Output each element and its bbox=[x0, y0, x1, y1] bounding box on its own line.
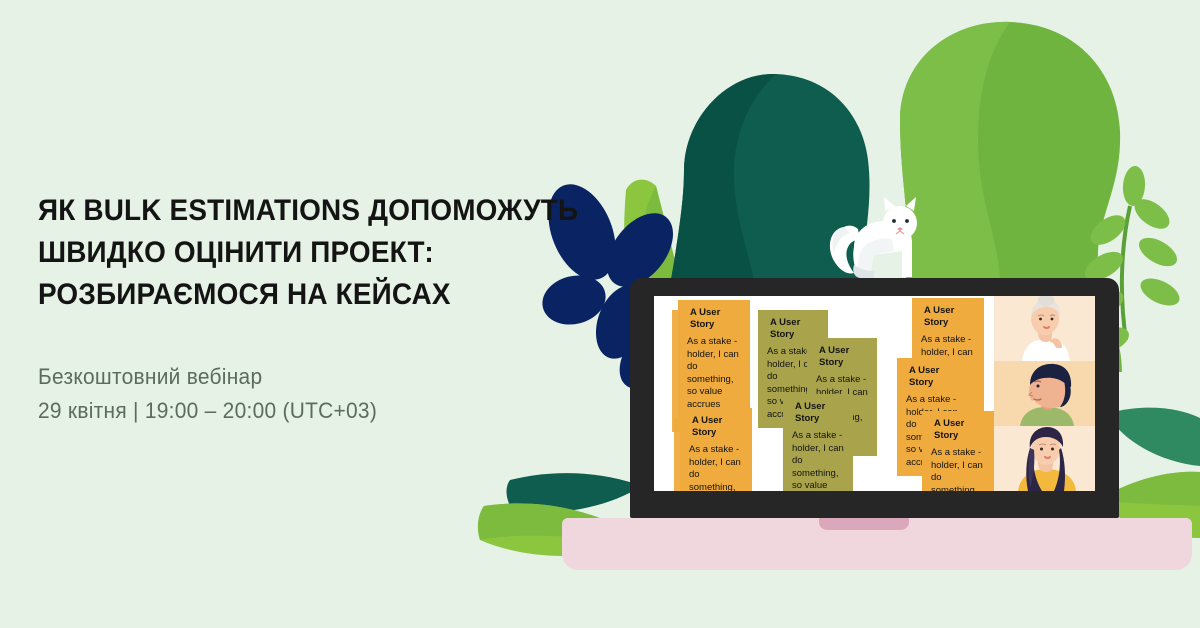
banner-text-block: ЯК BULK ESTIMATIONS ДОПОМОЖУТЬ ШВИДКО ОЦ… bbox=[38, 190, 558, 428]
sticky-note-title: A User Story bbox=[906, 365, 961, 389]
sticky-note-title: A User Story bbox=[931, 418, 986, 442]
sticky-note-title: A User Story bbox=[687, 307, 742, 331]
sticky-note-body: As a stake - holder, I can do something,… bbox=[931, 447, 986, 491]
laptop-hinge-notch bbox=[819, 518, 909, 530]
participant-man-profile[interactable] bbox=[994, 361, 1095, 426]
sticky-note[interactable]: A User StoryAs a stake - holder, I can d… bbox=[922, 411, 994, 491]
sticky-note-title: A User Story bbox=[816, 345, 869, 369]
participant-woman-bun[interactable] bbox=[994, 296, 1095, 361]
headline-line-2: ШВИДКО ОЦІНИТИ ПРОЕКТ: bbox=[38, 232, 522, 274]
participant-woman-long[interactable] bbox=[994, 426, 1095, 491]
sticky-note[interactable]: A User StoryAs a stake - holder, I can d… bbox=[783, 394, 853, 491]
sticky-note-title: A User Story bbox=[921, 305, 976, 329]
webinar-banner: A User StoryAs a stake - holder, I can d… bbox=[0, 0, 1200, 628]
sticky-note-body: As a stake - holder, I can do something,… bbox=[792, 430, 845, 491]
event-type-label: Безкоштовний вебінар bbox=[38, 360, 532, 394]
headline-line-3: РОЗБИРАЄМОСЯ НА КЕЙСАХ bbox=[38, 274, 522, 316]
sticky-note-title: A User Story bbox=[792, 401, 845, 425]
event-datetime-label: 29 квітня | 19:00 – 20:00 (UTC+03) bbox=[38, 394, 532, 428]
page-title: ЯК BULK ESTIMATIONS ДОПОМОЖУТЬ ШВИДКО ОЦ… bbox=[38, 190, 522, 316]
headline-line-1: ЯК BULK ESTIMATIONS ДОПОМОЖУТЬ bbox=[38, 190, 522, 232]
sticky-note[interactable]: A User StoryAs a stake - holder, I can d… bbox=[680, 408, 752, 491]
sticky-note-title: A User Story bbox=[689, 415, 744, 439]
white-cat-icon bbox=[818, 185, 928, 285]
sticky-note[interactable]: A User StoryAs a stake - holder, I can d… bbox=[678, 300, 750, 422]
sticky-note-body: As a stake - holder, I can do something,… bbox=[687, 336, 742, 412]
sticky-note-body: As a stake - holder, I can do something,… bbox=[689, 444, 744, 491]
video-call-whiteboard: A User StoryAs a stake - holder, I can d… bbox=[654, 296, 1095, 491]
subtitle-block: Безкоштовний вебінар 29 квітня | 19:00 –… bbox=[38, 360, 558, 428]
